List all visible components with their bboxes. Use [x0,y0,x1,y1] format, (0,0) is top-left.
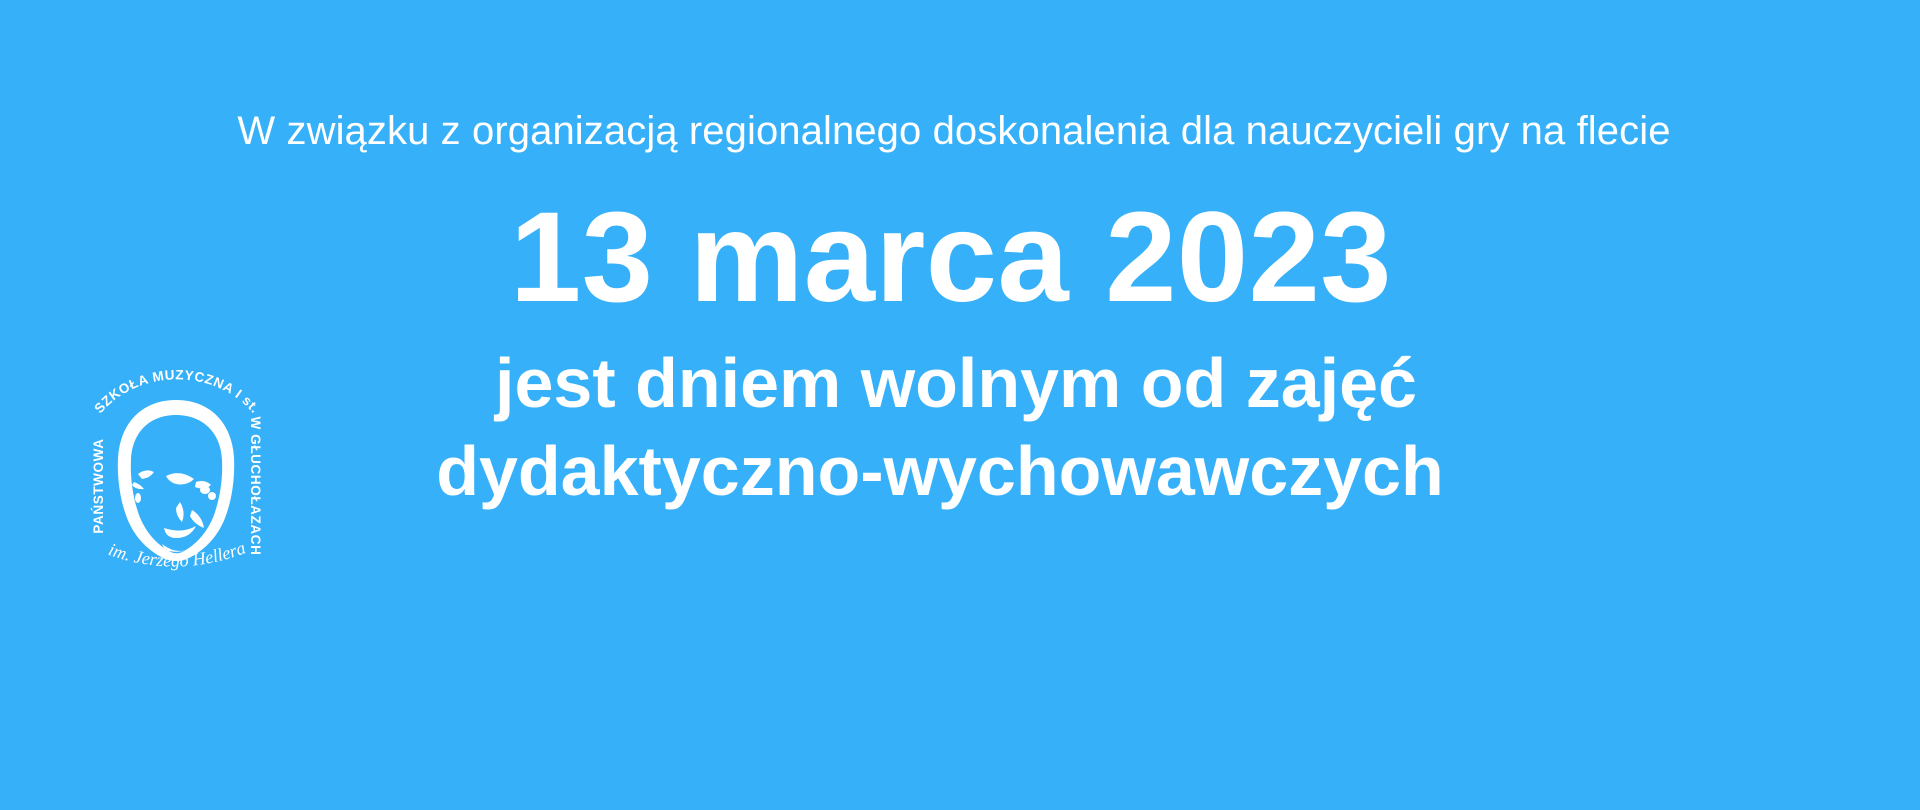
poster-text-stack: W związku z organizacją regionalnego dos… [0,0,1920,810]
announcement-poster: W związku z organizacją regionalnego dos… [0,0,1920,810]
school-crest-logo: SZKOŁA MUZYCZNA I st. PAŃSTWOWA W GŁUCHO… [76,370,276,580]
logo-right-text: W GŁUCHOŁAZACH [248,417,263,556]
date-headline: 13 marca 2023 [0,188,1920,329]
logo-left-text: PAŃSTWOWA [91,438,106,533]
intro-line: W związku z organizacją regionalnego dos… [0,108,1920,154]
body-line-one: jest dniem wolnym od zajęć [0,344,1920,422]
body-line-two: dydaktyczno-wychowawczych [0,432,1920,510]
school-crest-logo-icon: SZKOŁA MUZYCZNA I st. PAŃSTWOWA W GŁUCHO… [76,370,276,580]
